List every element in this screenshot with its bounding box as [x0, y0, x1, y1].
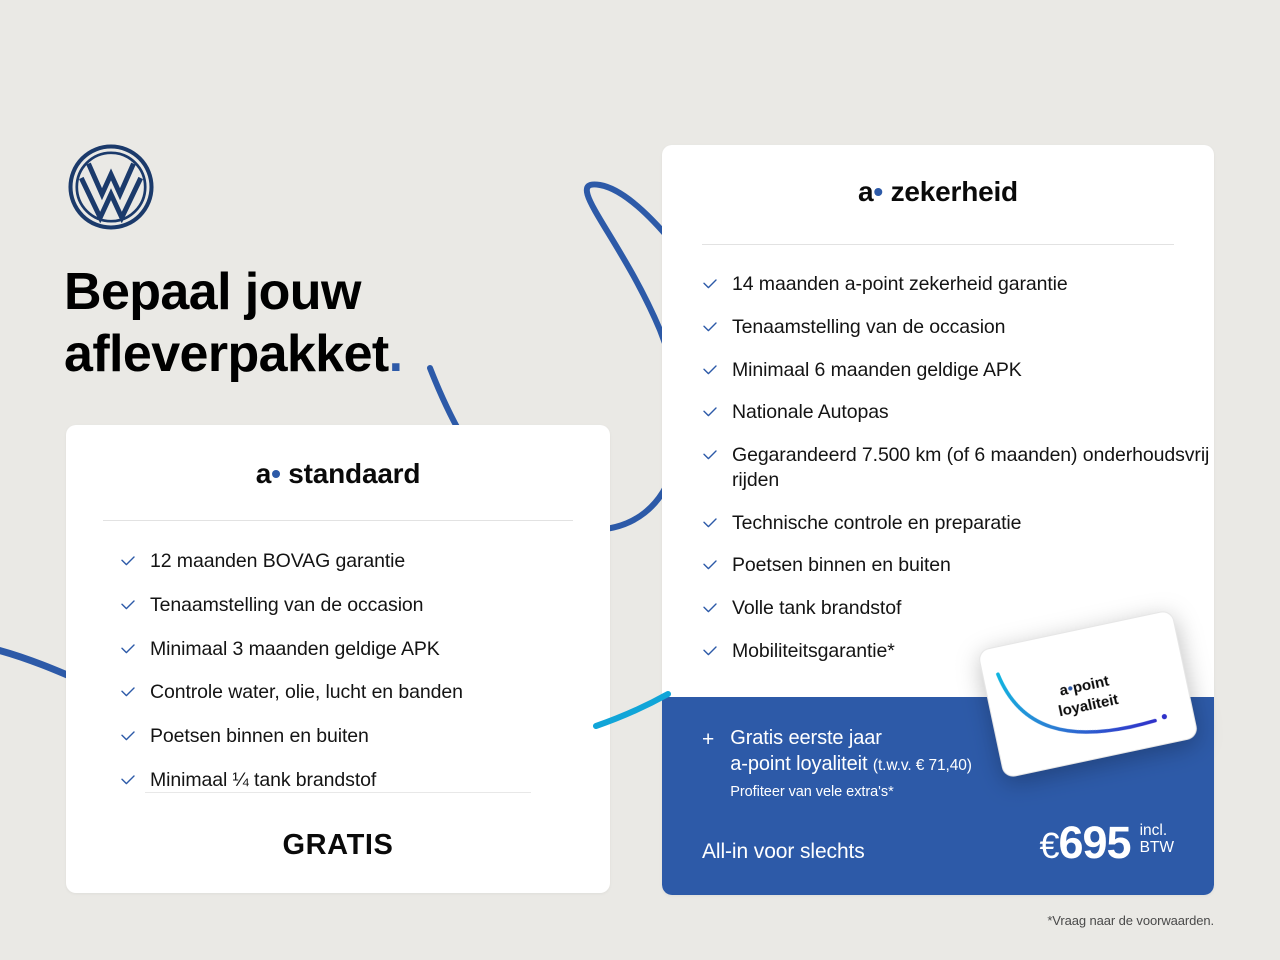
list-item-label: Minimaal ¼ tank brandstof — [150, 768, 376, 793]
poster-canvas: Bepaal jouw afleverpakket. a• standaard … — [0, 0, 1280, 960]
check-icon — [702, 277, 718, 293]
check-icon — [702, 405, 718, 421]
list-item: Poetsen binnen en buiten — [702, 553, 1214, 578]
list-item-label: Gegarandeerd 7.500 km (of 6 maanden) ond… — [732, 443, 1214, 493]
headline-line-2: afleverpakket — [64, 325, 389, 383]
list-item: 12 maanden BOVAG garantie — [120, 549, 610, 574]
list-item-label: 14 maanden a-point zekerheid garantie — [732, 272, 1068, 297]
list-item-label: Mobiliteitsgarantie* — [732, 639, 895, 664]
list-item: Technische controle en preparatie — [702, 511, 1214, 536]
card-title-zekerheid: a• zekerheid — [662, 176, 1214, 208]
price-label: All-in voor slechts — [702, 840, 865, 864]
feature-list-standaard: 12 maanden BOVAG garantie Tenaamstelling… — [66, 521, 610, 793]
list-item-label: Tenaamstelling van de occasion — [732, 315, 1005, 340]
check-icon — [120, 642, 136, 658]
brand-dot-icon: • — [271, 458, 281, 489]
list-item: Tenaamstelling van de occasion — [702, 315, 1214, 340]
card-title-standaard: a• standaard — [66, 458, 610, 490]
check-icon — [120, 773, 136, 789]
currency-symbol: € — [1039, 825, 1058, 866]
list-item: Poetsen binnen en buiten — [120, 724, 610, 749]
check-icon — [702, 644, 718, 660]
card-title-text: zekerheid — [891, 176, 1018, 207]
list-item: Minimaal ¼ tank brandstof — [120, 768, 610, 793]
headline-period: . — [389, 325, 403, 383]
list-item-label: Controle water, olie, lucht en banden — [150, 680, 463, 705]
list-item: Controle water, olie, lucht en banden — [120, 680, 610, 705]
price-tax-line-1: incl. — [1140, 822, 1174, 839]
price-number: 695 — [1058, 817, 1130, 868]
price-tax-note: incl. BTW — [1140, 822, 1174, 857]
check-icon — [702, 558, 718, 574]
price-block: €695 incl. BTW — [1039, 820, 1174, 865]
list-item-label: Technische controle en preparatie — [732, 511, 1021, 536]
footnote: *Vraag naar de voorwaarden. — [1047, 913, 1214, 928]
list-item-label: Nationale Autopas — [732, 400, 889, 425]
bonus-line-2: a-point loyaliteit — [730, 753, 867, 775]
price-tax-line-2: BTW — [1140, 839, 1174, 856]
check-icon — [120, 598, 136, 614]
price-divider — [145, 792, 531, 793]
brand-a: a — [256, 458, 271, 489]
list-item: Nationale Autopas — [702, 400, 1214, 425]
list-item: Minimaal 6 maanden geldige APK — [702, 358, 1214, 383]
check-icon — [702, 601, 718, 617]
list-item: 14 maanden a-point zekerheid garantie — [702, 272, 1214, 297]
list-item-label: 12 maanden BOVAG garantie — [150, 549, 405, 574]
volkswagen-logo-icon — [66, 142, 156, 232]
bonus-value: (t.w.v. € 71,40) — [873, 757, 972, 774]
check-icon — [702, 320, 718, 336]
page-title: Bepaal jouw afleverpakket. — [64, 262, 624, 386]
check-icon — [702, 516, 718, 532]
list-item: Gegarandeerd 7.500 km (of 6 maanden) ond… — [702, 443, 1214, 493]
brand-dot-icon: • — [873, 176, 883, 207]
feature-list-zekerheid: 14 maanden a-point zekerheid garantie Te… — [662, 245, 1214, 664]
list-item-label: Minimaal 6 maanden geldige APK — [732, 358, 1022, 383]
bonus-line-1: Gratis eerste jaar — [730, 725, 972, 751]
list-item: Minimaal 3 maanden geldige APK — [120, 637, 610, 662]
card-title-text: standaard — [288, 458, 420, 489]
plus-icon: + — [702, 729, 714, 802]
brand-a: a — [858, 176, 873, 207]
list-item-label: Poetsen binnen en buiten — [150, 724, 369, 749]
check-icon — [120, 729, 136, 745]
list-item: Tenaamstelling van de occasion — [120, 593, 610, 618]
list-item-label: Poetsen binnen en buiten — [732, 553, 951, 578]
price-row: All-in voor slechts €695 incl. BTW — [702, 820, 1174, 865]
list-item-label: Minimaal 3 maanden geldige APK — [150, 637, 440, 662]
package-card-standaard[interactable]: a• standaard 12 maanden BOVAG garantie T… — [66, 425, 610, 893]
check-icon — [120, 685, 136, 701]
list-item-label: Volle tank brandstof — [732, 596, 901, 621]
package-card-zekerheid[interactable]: a• zekerheid 14 maanden a-point zekerhei… — [662, 145, 1214, 895]
price-amount: €695 — [1039, 820, 1130, 865]
price-standaard: GRATIS — [66, 829, 610, 862]
list-item-label: Tenaamstelling van de occasion — [150, 593, 423, 618]
check-icon — [702, 448, 718, 464]
bonus-subtitle: Profiteer van vele extra's* — [730, 783, 972, 802]
headline-line-1: Bepaal jouw — [64, 263, 361, 321]
check-icon — [120, 554, 136, 570]
check-icon — [702, 363, 718, 379]
